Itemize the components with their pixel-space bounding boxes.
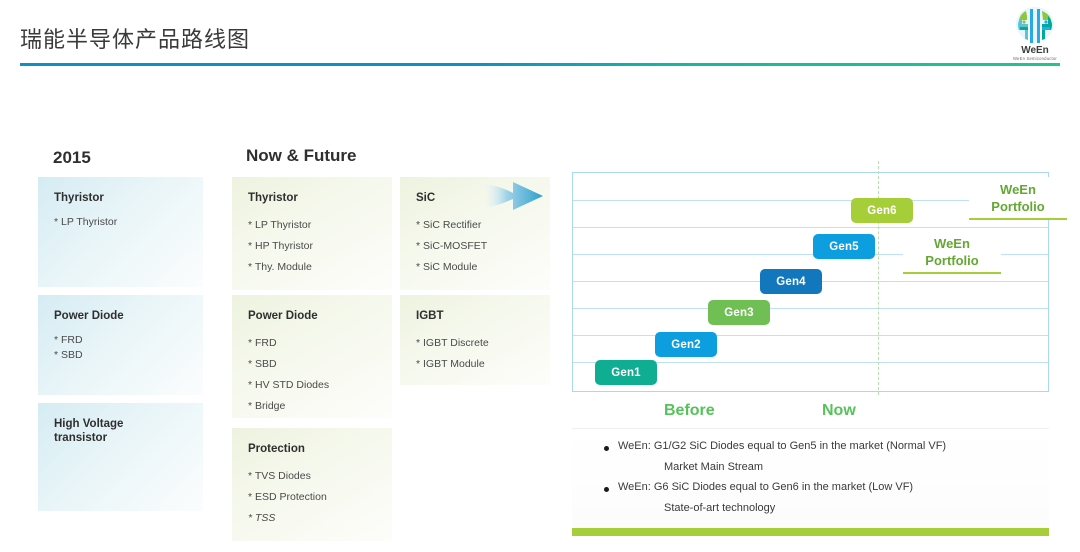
chart-plot-area: Gen1 Gen2 Gen3 Gen4 Gen5 Gen6 WeEn Portf… bbox=[572, 172, 1049, 392]
card-now-future-power-diode[interactable]: Power Diode * FRD * SBD * HV STD Diodes … bbox=[232, 295, 392, 418]
era-label-before: Before bbox=[664, 402, 715, 420]
page-title: 瑞能半导体产品路线图 bbox=[20, 22, 250, 54]
card-item: * FRD bbox=[54, 333, 187, 348]
gridline bbox=[573, 227, 1048, 228]
gen-chip-label: Gen5 bbox=[829, 241, 859, 253]
gen-chip-gen5[interactable]: Gen5 bbox=[813, 234, 875, 259]
gen-chip-gen4[interactable]: Gen4 bbox=[760, 269, 822, 294]
slide-header: 瑞能半导体产品路线图 bbox=[0, 0, 1080, 70]
card-item: * SiC Module bbox=[416, 257, 534, 278]
card-item: * FRD bbox=[248, 333, 376, 354]
gen-chip-gen1[interactable]: Gen1 bbox=[595, 360, 657, 385]
card-item: * SBD bbox=[248, 354, 376, 375]
brand-logo: WeEn WeEn Semiconductor bbox=[1000, 6, 1070, 66]
gen-chip-label: Gen3 bbox=[724, 307, 754, 319]
gen-chip-label: Gen1 bbox=[611, 367, 641, 379]
era-label-now: Now bbox=[822, 402, 856, 420]
card-now-future-protection[interactable]: Protection * TVS Diodes * ESD Protection… bbox=[232, 428, 392, 541]
gen-chip-label: Gen2 bbox=[671, 339, 701, 351]
column-heading-2015: 2015 bbox=[53, 148, 91, 168]
note-line-2-sub: State-of-art technology bbox=[664, 502, 775, 514]
notes-box: WeEn: G1/G2 SiC Diodes equal to Gen5 in … bbox=[572, 428, 1049, 530]
card-title: IGBT bbox=[416, 309, 534, 323]
now-divider-line bbox=[878, 161, 879, 395]
column-heading-now-future: Now & Future bbox=[246, 146, 357, 166]
card-now-future-thyristor[interactable]: Thyristor * LP Thyristor * HP Thyristor … bbox=[232, 177, 392, 290]
card-item: * TSS bbox=[248, 508, 376, 529]
card-2015-hv-transistor[interactable]: High Voltage transistor bbox=[38, 403, 203, 511]
note-line-2: WeEn: G6 SiC Diodes equal to Gen6 in the… bbox=[618, 481, 913, 493]
card-item: * LP Thyristor bbox=[248, 215, 376, 236]
gen-chip-gen6[interactable]: Gen6 bbox=[851, 198, 913, 223]
ween-portfolio-callout-lower: WeEn Portfolio bbox=[903, 231, 1001, 274]
card-item: * SBD bbox=[54, 348, 187, 363]
card-item: * SiC-MOSFET bbox=[416, 236, 534, 257]
note-line-1-sub: Market Main Stream bbox=[664, 461, 763, 473]
logo-subtext: WeEn Semiconductor bbox=[1000, 56, 1070, 62]
ween-portfolio-callout-upper: WeEn Portfolio bbox=[969, 177, 1067, 220]
card-item: * TVS Diodes bbox=[248, 466, 376, 487]
card-now-future-igbt[interactable]: IGBT * IGBT Discrete * IGBT Module bbox=[400, 295, 550, 385]
card-item: * IGBT Discrete bbox=[416, 333, 534, 354]
card-item: * LP Thyristor bbox=[54, 215, 187, 230]
gen-chip-gen3[interactable]: Gen3 bbox=[708, 300, 770, 325]
card-title: Power Diode bbox=[54, 309, 187, 323]
card-title: Protection bbox=[248, 442, 376, 456]
bullet-icon bbox=[604, 446, 609, 451]
rightward-transition-arrow-icon bbox=[483, 176, 545, 216]
gen-chip-gen2[interactable]: Gen2 bbox=[655, 332, 717, 357]
card-title: Power Diode bbox=[248, 309, 376, 323]
card-item: * Thy. Module bbox=[248, 257, 376, 278]
card-title: Thyristor bbox=[54, 191, 187, 205]
bottom-accent-bar bbox=[572, 528, 1049, 536]
card-item: * ESD Protection bbox=[248, 487, 376, 508]
gen-chip-label: Gen4 bbox=[776, 276, 806, 288]
card-item: * SiC Rectifier bbox=[416, 215, 534, 236]
card-item: * IGBT Module bbox=[416, 354, 534, 375]
card-2015-thyristor[interactable]: Thyristor * LP Thyristor bbox=[38, 177, 203, 287]
card-2015-power-diode[interactable]: Power Diode * FRD * SBD bbox=[38, 295, 203, 395]
bullet-icon bbox=[604, 487, 609, 492]
gridline bbox=[573, 308, 1048, 309]
gridline bbox=[573, 335, 1048, 336]
card-item: * HV STD Diodes bbox=[248, 375, 376, 396]
note-line-1: WeEn: G1/G2 SiC Diodes equal to Gen5 in … bbox=[618, 440, 946, 452]
chip-technology-chart-panel: Chip Technology Gen1 Gen2 Gen3 Gen4 Gen5… bbox=[556, 168, 1051, 548]
title-divider-rule bbox=[20, 63, 1060, 66]
card-item: * Bridge bbox=[248, 396, 376, 417]
card-item: * HP Thyristor bbox=[248, 236, 376, 257]
card-title: Thyristor bbox=[248, 191, 376, 205]
gen-chip-label: Gen6 bbox=[867, 205, 897, 217]
logo-wordmark: WeEn bbox=[1000, 45, 1070, 56]
ween-tree-circuit-logo-icon bbox=[1014, 6, 1056, 44]
card-title: High Voltage transistor bbox=[54, 417, 187, 445]
